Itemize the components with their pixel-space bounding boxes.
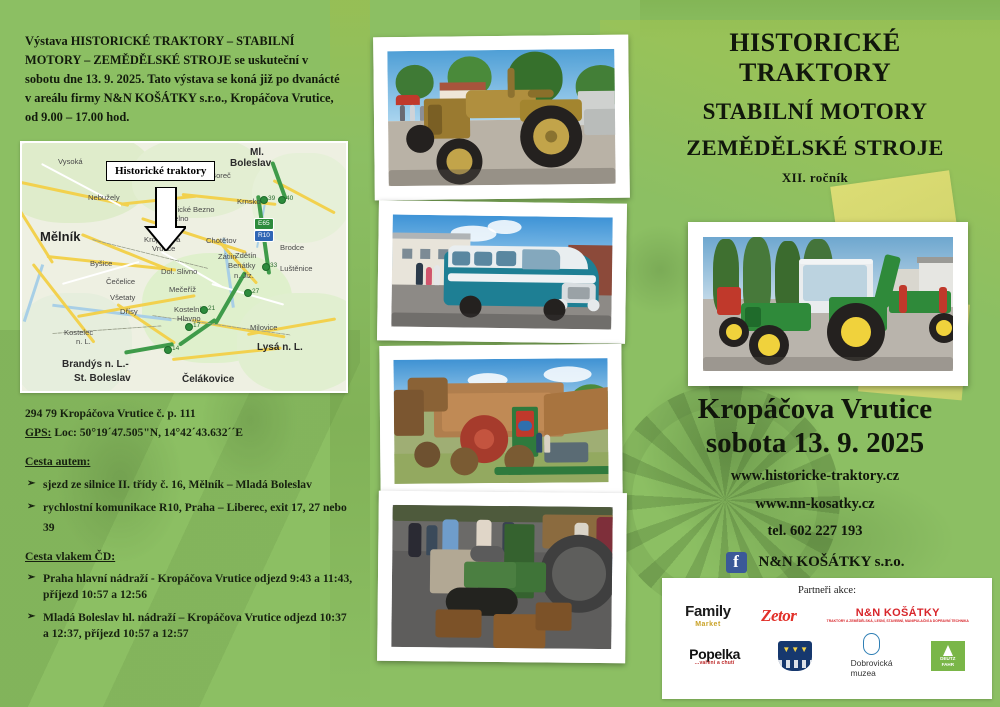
partners-heading: Partneři akce:: [662, 578, 992, 596]
photo-green-tractor[interactable]: [688, 222, 968, 386]
map-route-shield: R10: [254, 230, 274, 242]
map-exit-dot: [260, 196, 268, 204]
event-phone: tel. 602 227 193: [640, 521, 990, 542]
map-exit-dot: [262, 263, 270, 271]
map-callout-label: Historické traktory: [106, 161, 215, 181]
map-label: Byšice: [90, 259, 112, 268]
list-item: Mladá Boleslav hl. nádraží – Kropáčova V…: [25, 610, 355, 643]
facebook-page-name[interactable]: N&N KOŠÁTKY s.r.o.: [759, 554, 905, 571]
map-exit-number: 33: [270, 262, 277, 269]
photo-image: [387, 49, 615, 186]
facebook-row[interactable]: f N&N KOŠÁTKY s.r.o.: [640, 552, 990, 573]
partner-sub: ...vaření a chutí: [695, 661, 735, 666]
map-label: Bezno: [193, 205, 215, 214]
partner-sub: TRAKTORY A ZEMĚDĚLSKÁ, LESNÍ, STAVEBNÍ, …: [827, 620, 969, 624]
location-map[interactable]: MělníkMl.BoleslavBrandýs n. L.-St. Boles…: [20, 141, 348, 393]
partner-sub: Market: [695, 621, 721, 628]
map-label: Dřísy: [120, 307, 138, 316]
map-label: Kostelec: [64, 328, 93, 337]
map-label: Mečeříž: [169, 285, 196, 294]
map-exit-number: 40: [286, 195, 293, 202]
map-label: Luštěnice: [280, 264, 313, 273]
title-line-3: STABILNÍ MOTORY: [640, 98, 990, 126]
address-line: 294 79 Kropáčova Vrutice č. p. 111: [25, 405, 355, 424]
deutz-fahr-mark: DEUTZ FAHR: [931, 641, 965, 671]
photo-image: [391, 214, 613, 329]
map-label: Boleslav: [230, 158, 271, 169]
list-item: Praha hlavní nádraží - Kropáčova Vrutice…: [25, 571, 355, 604]
map-label: Brodce: [280, 243, 304, 252]
map-label: Benátky: [228, 261, 255, 270]
partner-logo-deutz-fahr[interactable]: DEUTZ FAHR: [931, 641, 965, 671]
partners-row-2: Popelka ...vaření a chutí ▼▼▼ Dobrovická…: [662, 636, 992, 676]
car-route-heading: Cesta autem:: [25, 453, 355, 472]
partner-name: Family: [685, 604, 731, 619]
event-website-2[interactable]: www.nn-kosatky.cz: [640, 494, 990, 515]
map-label: Nebužely: [88, 193, 120, 202]
crest-icon: ▼▼▼: [778, 641, 812, 671]
train-route-heading: Cesta vlakem ČD:: [25, 548, 355, 567]
partner-logo-nn-kosatky[interactable]: N&N KOŠÁTKY TRAKTORY A ZEMĚDĚLSKÁ, LESNÍ…: [827, 608, 969, 624]
map-label: Zátiin: [218, 252, 237, 261]
event-website-1[interactable]: www.historicke-traktory.cz: [640, 466, 990, 487]
map-label: n. Jiz.: [234, 271, 254, 280]
photo-image: [703, 237, 953, 371]
title-line-4: ZEMĚDĚLSKÉ STROJE: [640, 134, 990, 161]
partners-row-1: Family Market Zetor N&N KOŠÁTKY TRAKTORY…: [662, 596, 992, 636]
gps-value: Loc: 50°19´47.505"N, 14°42´43.632´´E: [51, 426, 243, 439]
event-details: Kropáčova Vrutice sobota 13. 9. 2025 www…: [640, 392, 990, 573]
gps-label: GPS:: [25, 426, 51, 439]
map-label: Krnsko: [237, 197, 261, 206]
map-label: Čelákovice: [182, 374, 234, 385]
list-item: sjezd ze silnice II. třídy č. 16, Mělník…: [25, 475, 355, 495]
address-block: 294 79 Kropáčova Vrutice č. p. 111 GPS: …: [25, 405, 355, 649]
partner-sub: muzea: [851, 669, 893, 679]
map-exit-number: 17: [193, 322, 200, 329]
map-exit-number: 21: [208, 305, 215, 312]
map-canvas: MělníkMl.BoleslavBrandýs n. L.-St. Boles…: [22, 143, 346, 391]
map-exit-dot: [185, 323, 193, 331]
partner-logo-popelka[interactable]: Popelka ...vaření a chutí: [689, 647, 740, 666]
map-exit-number: 27: [252, 288, 259, 295]
map-exit-dot: [164, 346, 172, 354]
photo-threshing-machine[interactable]: [379, 344, 622, 498]
event-place: Kropáčova Vrutice: [640, 392, 990, 426]
partner-name: N&N KOŠÁTKY: [856, 608, 940, 620]
photo-image: [391, 505, 612, 649]
map-pointer-arrow: [140, 187, 186, 251]
photo-stationary-engine[interactable]: [377, 491, 627, 664]
map-label: Čečelice: [106, 277, 135, 286]
map-label: Dol. Slivno: [161, 267, 197, 276]
partner-name: Popelka: [689, 647, 740, 661]
title-line-1: HISTORICKÉ: [640, 28, 990, 58]
train-route-list: Praha hlavní nádraží - Kropáčova Vrutice…: [25, 571, 355, 643]
title-edition: XII. ročník: [640, 170, 990, 186]
triangle-icon: [943, 645, 953, 656]
map-label: Vysoká: [58, 157, 83, 166]
map-label: St. Boleslav: [74, 373, 131, 384]
photo-vintage-bus[interactable]: [377, 200, 627, 343]
partner-sub: FAHR: [942, 663, 955, 668]
map-exit-dot: [244, 289, 252, 297]
map-label: Zdětín: [235, 251, 257, 260]
map-label: Ml.: [250, 147, 264, 158]
partner-name: Zetor: [761, 606, 796, 626]
map-label: n. L.: [76, 337, 91, 346]
photo-image: [393, 358, 608, 484]
car-route-list: sjezd ze silnice II. třídy č. 16, Mělník…: [25, 475, 355, 538]
event-date: sobota 13. 9. 2025: [640, 426, 990, 460]
map-exit-number: 14: [172, 345, 179, 352]
poster-root: Výstava HISTORICKÉ TRAKTORY – STABILNÍ M…: [0, 0, 1000, 707]
intro-paragraph: Výstava HISTORICKÉ TRAKTORY – STABILNÍ M…: [25, 32, 345, 127]
partner-logo-family-market[interactable]: Family Market: [685, 604, 731, 628]
partner-name: DEUTZ: [940, 657, 955, 662]
poster-title: HISTORICKÉ TRAKTORY STABILNÍ MOTORY ZEMĚ…: [640, 28, 990, 186]
list-item: rychlostní komunikace R10, Praha – Liber…: [25, 498, 355, 538]
map-label: Mělník: [40, 229, 80, 244]
spiral-icon: [863, 633, 880, 655]
map-exit-dot: [278, 196, 286, 204]
partner-logo-dobrovicka-muzea[interactable]: Dobrovická muzea: [851, 633, 893, 678]
map-label: Lysá n. L.: [257, 342, 303, 353]
photo-vintage-tractor[interactable]: [373, 35, 630, 201]
facebook-icon[interactable]: f: [726, 552, 747, 573]
partner-logo-municipal-crest[interactable]: ▼▼▼: [778, 641, 812, 671]
partner-logo-zetor[interactable]: Zetor: [761, 606, 796, 626]
map-label: Brandýs n. L.-: [62, 359, 129, 370]
map-exit-number: 39: [268, 195, 275, 202]
title-line-2: TRAKTORY: [640, 58, 990, 88]
map-label: Všetaty: [110, 293, 135, 302]
map-label: Milovice: [250, 323, 277, 332]
map-label: Chotětov: [206, 236, 236, 245]
map-label: Kostelní: [174, 305, 201, 314]
gps-line: GPS: Loc: 50°19´47.505"N, 14°42´43.632´´…: [25, 424, 355, 443]
map-exit-dot: [200, 306, 208, 314]
partners-panel: Partneři akce: Family Market Zetor N&N K…: [662, 578, 992, 699]
map-route-shield: E65: [254, 218, 274, 230]
